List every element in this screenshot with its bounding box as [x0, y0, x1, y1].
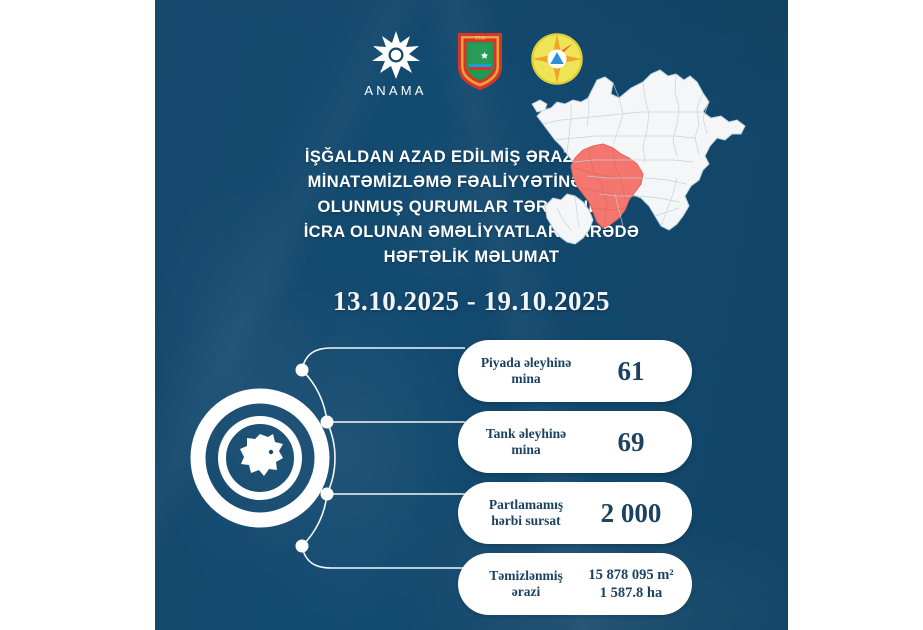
map-landmass: [532, 70, 745, 244]
connector-card-4: [302, 546, 465, 568]
ministry-of-defense-emblem: 1918: [455, 30, 511, 97]
stat-card-label: Tank əleyhinə mina: [458, 426, 580, 458]
stat-card-label: Piyada əleyhinə mina: [458, 355, 580, 387]
azerbaijan-map-svg: [527, 58, 777, 278]
label-line-2: ərazi: [512, 584, 540, 599]
value-line-1: 61: [580, 357, 682, 386]
connector-card-1: [302, 348, 465, 370]
value-line-1: 2 000: [580, 499, 682, 528]
label-line-2: hərbi sursat: [491, 513, 560, 528]
label-line-1: Piyada əleyhinə: [481, 355, 571, 370]
svg-text:1918: 1918: [475, 37, 486, 42]
stat-card-unexploded-ordnance[interactable]: Partlamamış hərbi sursat 2 000: [458, 482, 692, 544]
value-line-1: 69: [580, 428, 682, 457]
label-line-1: Partlamamış: [489, 497, 563, 512]
label-line-2: mina: [511, 442, 540, 457]
emblem-center-mine-icon: [240, 434, 283, 476]
connector-node-4: [296, 540, 309, 553]
label-line-1: Tank əleyhinə: [486, 426, 566, 441]
label-line-2: mina: [511, 371, 540, 386]
anama-wordmark: ANAMA: [364, 83, 426, 98]
stat-card-value: 2 000: [580, 499, 692, 528]
label-line-1: Təmizlənmiş: [489, 568, 563, 583]
defense-shield-icon: 1918: [455, 30, 505, 92]
value-line-1: 15 878 095 m²: [580, 566, 682, 584]
connector-node-3: [321, 488, 334, 501]
emblem-rings: [198, 396, 322, 520]
anama-logo: ANAMA: [355, 30, 437, 98]
stat-card-label: Partlamamış hərbi sursat: [458, 497, 580, 529]
azerbaijan-map: [527, 58, 777, 278]
stat-card-value: 69: [580, 428, 692, 457]
stat-card-value: 61: [580, 357, 692, 386]
date-range: 13.10.2025 - 19.10.2025: [155, 286, 788, 317]
connector-node-1: [296, 364, 309, 377]
stat-card-label: Təmizlənmiş ərazi: [458, 568, 580, 600]
stat-card-cleared-area[interactable]: Təmizlənmiş ərazi 15 878 095 m² 1 587.8 …: [458, 553, 692, 615]
stat-card-antipersonnel-mines[interactable]: Piyada əleyhinə mina 61: [458, 340, 692, 402]
statistics-card-list: Piyada əleyhinə mina 61 Tank əleyhinə mi…: [458, 340, 692, 624]
infographic-canvas: ANAMA 1918: [0, 0, 923, 630]
value-line-2: 1 587.8 ha: [580, 584, 682, 602]
connector-node-2: [321, 416, 334, 429]
stat-card-value: 15 878 095 m² 1 587.8 ha: [580, 566, 692, 602]
stat-card-antitank-mines[interactable]: Tank əleyhinə mina 69: [458, 411, 692, 473]
anama-star-icon: [368, 30, 424, 80]
